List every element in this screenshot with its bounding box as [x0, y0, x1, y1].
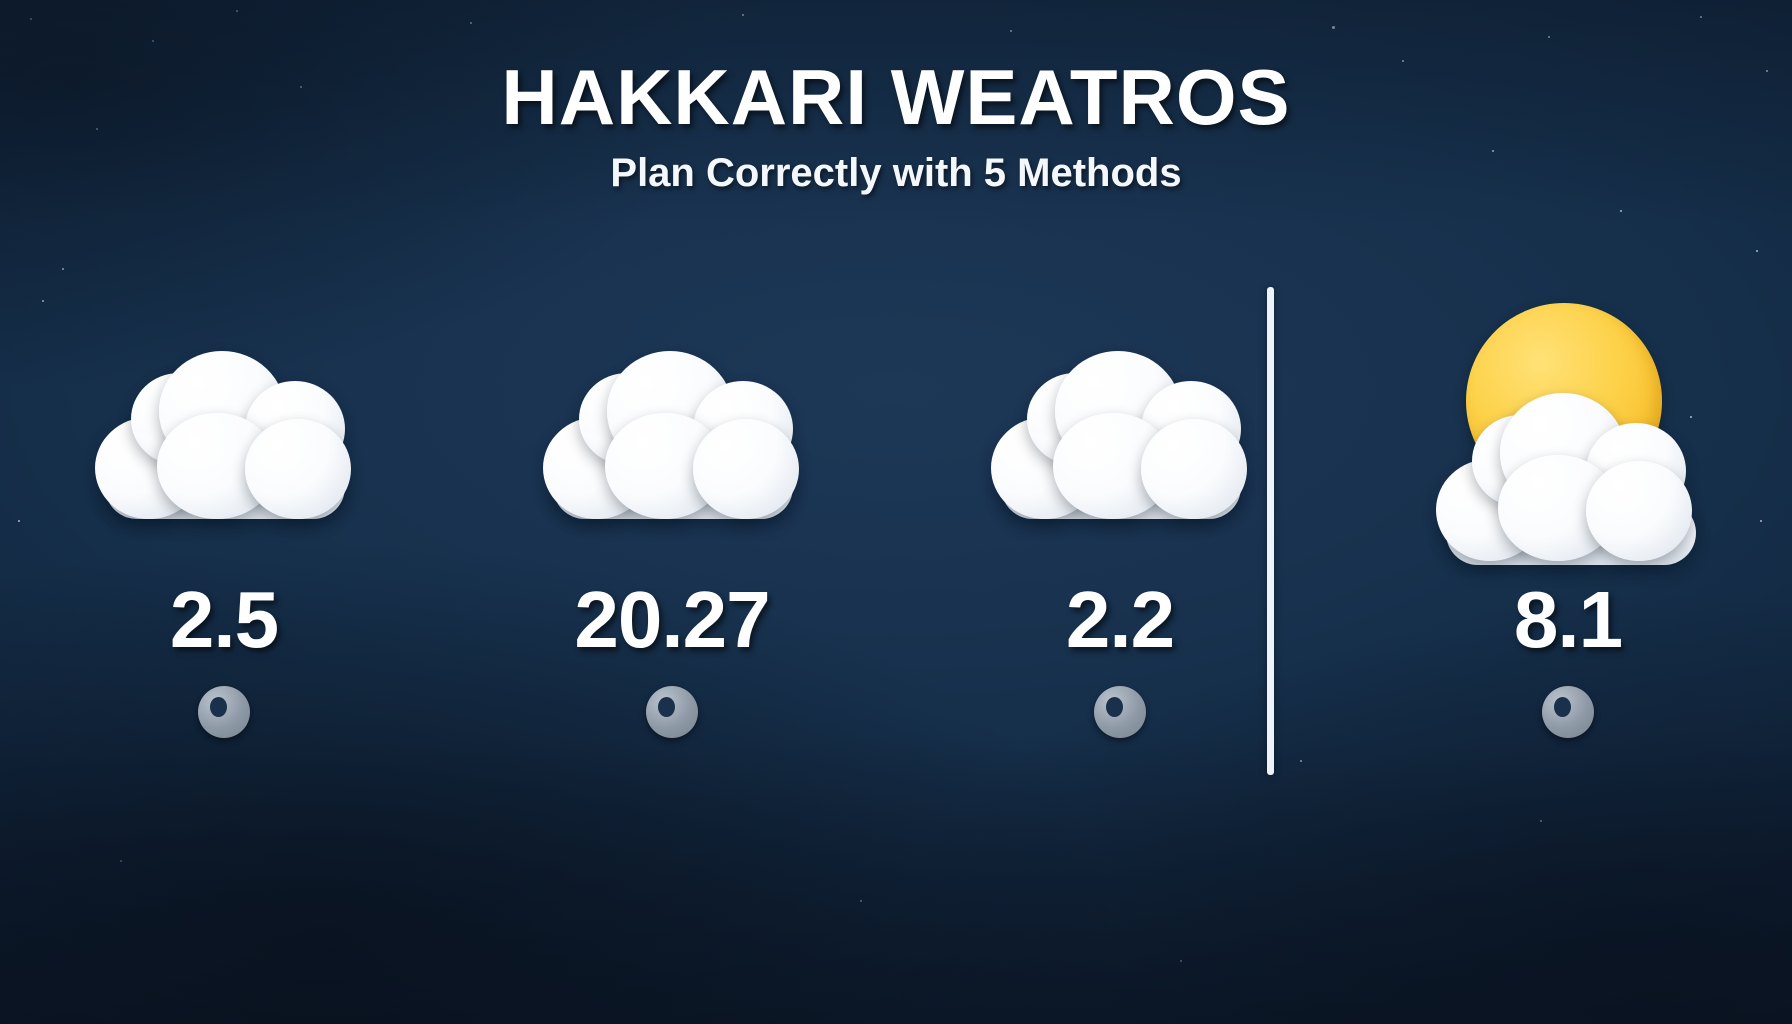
header: HAKKARI WEATROS Plan Correctly with 5 Me… [0, 58, 1792, 194]
weather-graphic: HAKKARI WEATROS Plan Correctly with 5 Me… [0, 0, 1792, 1024]
cloud-icon [1436, 393, 1704, 565]
star [470, 22, 472, 24]
star [1620, 210, 1622, 212]
star [1700, 16, 1702, 18]
cloud-icon [543, 351, 801, 519]
temperature-value: 2.2 [1066, 580, 1174, 660]
forecast-column: 20.27 [448, 290, 896, 738]
weather-icon-wrap [95, 290, 353, 580]
cloud-puff [1141, 419, 1247, 519]
star [62, 268, 64, 270]
star [1332, 26, 1335, 29]
star [1010, 30, 1012, 32]
cloud-puff [693, 419, 799, 519]
temperature-value: 2.5 [170, 580, 278, 660]
star [1180, 960, 1182, 962]
temperature-value: 20.27 [574, 580, 769, 660]
star [1756, 250, 1758, 252]
temperature-value: 8.1 [1514, 580, 1622, 660]
star [236, 10, 238, 12]
weather-icon-wrap [543, 290, 801, 580]
degree-symbol-icon [1094, 686, 1146, 738]
page-title: HAKKARI WEATROS [0, 58, 1792, 138]
forecast-column: 2.5 [0, 290, 448, 738]
star [1548, 36, 1550, 38]
degree-symbol-icon [1542, 686, 1594, 738]
star [152, 40, 154, 42]
cloud-puff [1586, 461, 1692, 561]
degree-symbol-icon [646, 686, 698, 738]
cloud-puff [245, 419, 351, 519]
forecast-row: 2.5 20.27 [0, 290, 1792, 890]
cloud-icon [95, 351, 353, 519]
weather-icon-wrap [1418, 290, 1718, 580]
weather-icon-wrap [991, 290, 1249, 580]
page-subtitle: Plan Correctly with 5 Methods [0, 152, 1792, 194]
section-divider [1267, 287, 1274, 775]
degree-symbol-icon [198, 686, 250, 738]
sun-behind-cloud-icon [1418, 285, 1718, 585]
forecast-column: 2.2 [896, 290, 1344, 738]
star [30, 18, 32, 20]
star [860, 900, 862, 902]
cloud-icon [991, 351, 1249, 519]
forecast-column: 8.1 [1344, 290, 1792, 738]
star [742, 14, 744, 16]
